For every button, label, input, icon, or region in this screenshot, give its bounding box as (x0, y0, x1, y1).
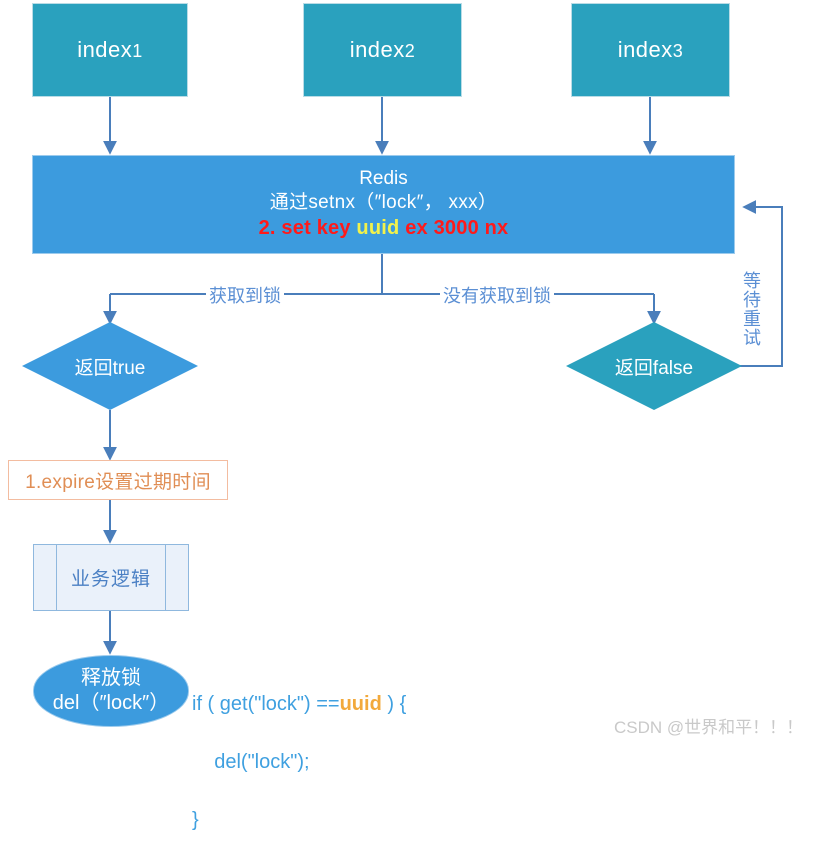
release-lock-command: del（″lock″） (53, 691, 169, 716)
index2-label: index2 (350, 39, 416, 61)
expire-label: 1.expire设置过期时间 (25, 467, 211, 494)
node-return-true[interactable]: 返回true (22, 322, 198, 410)
diamond-true-shape (22, 322, 198, 410)
code-snippet: if ( get("lock") ==uuid ) { del("lock");… (192, 661, 406, 864)
node-return-false[interactable]: 返回false (566, 322, 742, 410)
code-line-2: del("lock"); (192, 748, 406, 777)
business-logic-label: 业务逻辑 (71, 564, 151, 591)
index1-label: index1 (77, 39, 143, 61)
diamond-false-shape (566, 322, 742, 410)
release-lock-title: 释放锁 (81, 666, 141, 691)
node-expire[interactable]: 1.expire设置过期时间 (8, 460, 228, 500)
code-line-1: if ( get("lock") ==uuid ) { (192, 690, 406, 719)
redis-title: Redis (359, 167, 408, 191)
redis-setkey-text: 2. set key uuid ex 3000 nx (259, 215, 509, 242)
node-redis[interactable]: Redis 通过setnx（″lock″， xxx） 2. set key uu… (32, 155, 735, 254)
code-line-3: } (192, 806, 406, 835)
node-index2[interactable]: index2 (303, 3, 462, 97)
node-index3[interactable]: index3 (571, 3, 730, 97)
edge-label-not-acquired: 没有获取到锁 (440, 282, 554, 308)
edge-label-acquired: 获取到锁 (206, 282, 284, 308)
node-index1[interactable]: index1 (32, 3, 188, 97)
csdn-watermark: CSDN @世界和平！！！ (614, 713, 803, 738)
index3-label: index3 (618, 39, 684, 61)
node-business-logic[interactable]: 业务逻辑 (33, 544, 189, 611)
redis-setnx-text: 通过setnx（″lock″， xxx） (270, 191, 497, 216)
node-release-lock[interactable]: 释放锁 del（″lock″） (33, 655, 189, 727)
